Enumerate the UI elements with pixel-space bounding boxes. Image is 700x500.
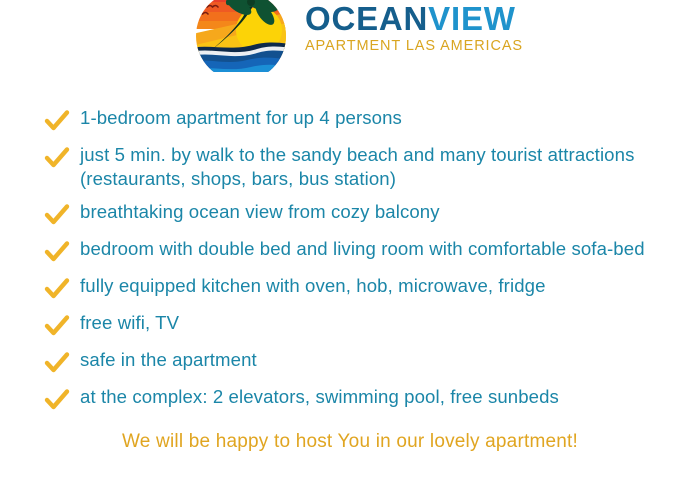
- check-icon: [44, 313, 70, 339]
- brand-wordmark: OCEANVIEW APARTMENT LAS AMERICAS: [305, 0, 523, 53]
- brand-name-part2: VIEW: [428, 0, 516, 37]
- list-item-label: fully equipped kitchen with oven, hob, m…: [80, 274, 546, 298]
- check-icon: [44, 145, 70, 171]
- logo-lockup: OCEANVIEW APARTMENT LAS AMERICAS: [183, 0, 523, 72]
- brand-name: OCEANVIEW: [305, 2, 523, 36]
- list-item: just 5 min. by walk to the sandy beach a…: [44, 143, 670, 191]
- list-item-label: just 5 min. by walk to the sandy beach a…: [80, 143, 650, 191]
- check-icon: [44, 276, 70, 302]
- check-icon: [44, 350, 70, 376]
- list-item-label: free wifi, TV: [80, 311, 179, 335]
- list-item-label: 1-bedroom apartment for up 4 persons: [80, 106, 402, 130]
- list-item-label: safe in the apartment: [80, 348, 257, 372]
- brand-subtitle: APARTMENT LAS AMERICAS: [305, 39, 523, 54]
- list-item: free wifi, TV: [44, 311, 670, 339]
- brand-header: OCEANVIEW APARTMENT LAS AMERICAS: [0, 0, 700, 86]
- list-item: breathtaking ocean view from cozy balcon…: [44, 200, 670, 228]
- list-item-label: breathtaking ocean view from cozy balcon…: [80, 200, 440, 224]
- feature-list: 1-bedroom apartment for up 4 persons jus…: [0, 106, 700, 413]
- list-item: 1-bedroom apartment for up 4 persons: [44, 106, 670, 134]
- check-icon: [44, 202, 70, 228]
- closing-message: We will be happy to host You in our love…: [0, 431, 700, 453]
- list-item: at the complex: 2 elevators, swimming po…: [44, 385, 670, 413]
- ocean-sunset-palm-logo-icon: [183, 0, 299, 72]
- brand-name-part1: OCEAN: [305, 0, 428, 37]
- list-item-label: at the complex: 2 elevators, swimming po…: [80, 385, 559, 409]
- check-icon: [44, 239, 70, 265]
- check-icon: [44, 387, 70, 413]
- list-item: fully equipped kitchen with oven, hob, m…: [44, 274, 670, 302]
- list-item: safe in the apartment: [44, 348, 670, 376]
- list-item: bedroom with double bed and living room …: [44, 237, 670, 265]
- check-icon: [44, 108, 70, 134]
- list-item-label: bedroom with double bed and living room …: [80, 237, 645, 261]
